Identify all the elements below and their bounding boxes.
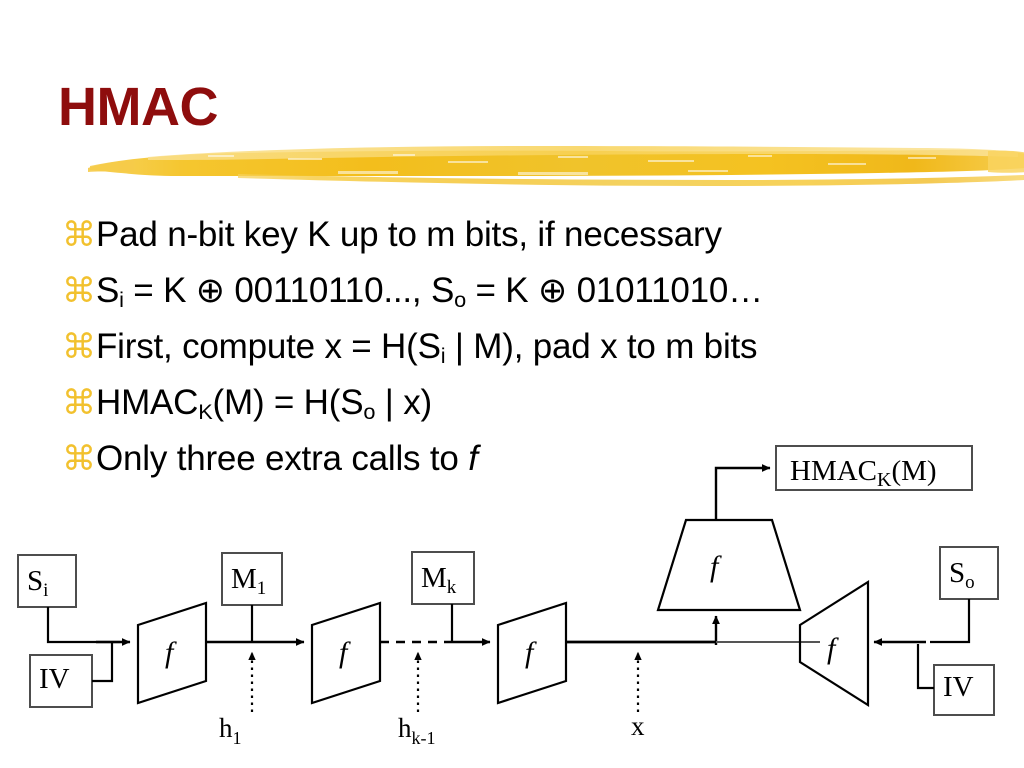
bullet-marker-icon: ⌘ — [62, 378, 96, 428]
bullet-marker-icon: ⌘ — [62, 266, 96, 316]
input-box-iv-right-label: IV — [943, 671, 974, 703]
hmac-flow-diagram: HMACK(M) Si IV M1 Mk So IV f f f f f h1 … — [0, 430, 1024, 768]
f-block-outer-label: f — [827, 632, 839, 665]
connector-f-top-to-output — [716, 468, 770, 520]
label-h1: h1 — [219, 713, 242, 748]
bullet-text-2: Si = K ⊕ 00110110..., So = K ⊕ 01011010… — [96, 266, 763, 316]
bullet-text-4: HMACK(M) = H(So | x) — [96, 378, 432, 428]
connector-s-in-to-bus — [48, 607, 120, 642]
bullet-text-3: First, compute x = H(Si | M), pad x to m… — [96, 322, 757, 372]
connector-iv-right-to-bus — [918, 644, 934, 688]
slide-root: HMAC — [0, 0, 1024, 768]
output-box-label: HMACK(M) — [790, 455, 937, 491]
bullet-marker-icon: ⌘ — [62, 322, 96, 372]
f-block-1-label: f — [165, 636, 177, 669]
list-item: ⌘ HMACK(M) = H(So | x) — [62, 378, 1022, 434]
f-block-top-label: f — [710, 550, 722, 583]
bullet-text-1: Pad n-bit key K up to m bits, if necessa… — [96, 210, 722, 260]
f-block-3-label: f — [525, 636, 537, 669]
page-title: HMAC — [58, 78, 218, 136]
connector-iv-left-to-bus — [92, 642, 112, 681]
gold-brush-underline — [88, 138, 1024, 194]
bullet-marker-icon: ⌘ — [62, 210, 96, 260]
input-box-iv-left-label: IV — [39, 663, 70, 695]
label-x: x — [631, 711, 645, 741]
f-block-2-label: f — [339, 636, 351, 669]
list-item: ⌘ Si = K ⊕ 00110110..., So = K ⊕ 0101101… — [62, 266, 1022, 322]
connector-s-out-to-bus — [930, 599, 969, 642]
f-block-top-shape — [658, 520, 800, 610]
list-item: ⌘ First, compute x = H(Si | M), pad x to… — [62, 322, 1022, 378]
label-hk-1: hk-1 — [398, 713, 436, 748]
list-item: ⌘ Pad n-bit key K up to m bits, if neces… — [62, 210, 1022, 266]
